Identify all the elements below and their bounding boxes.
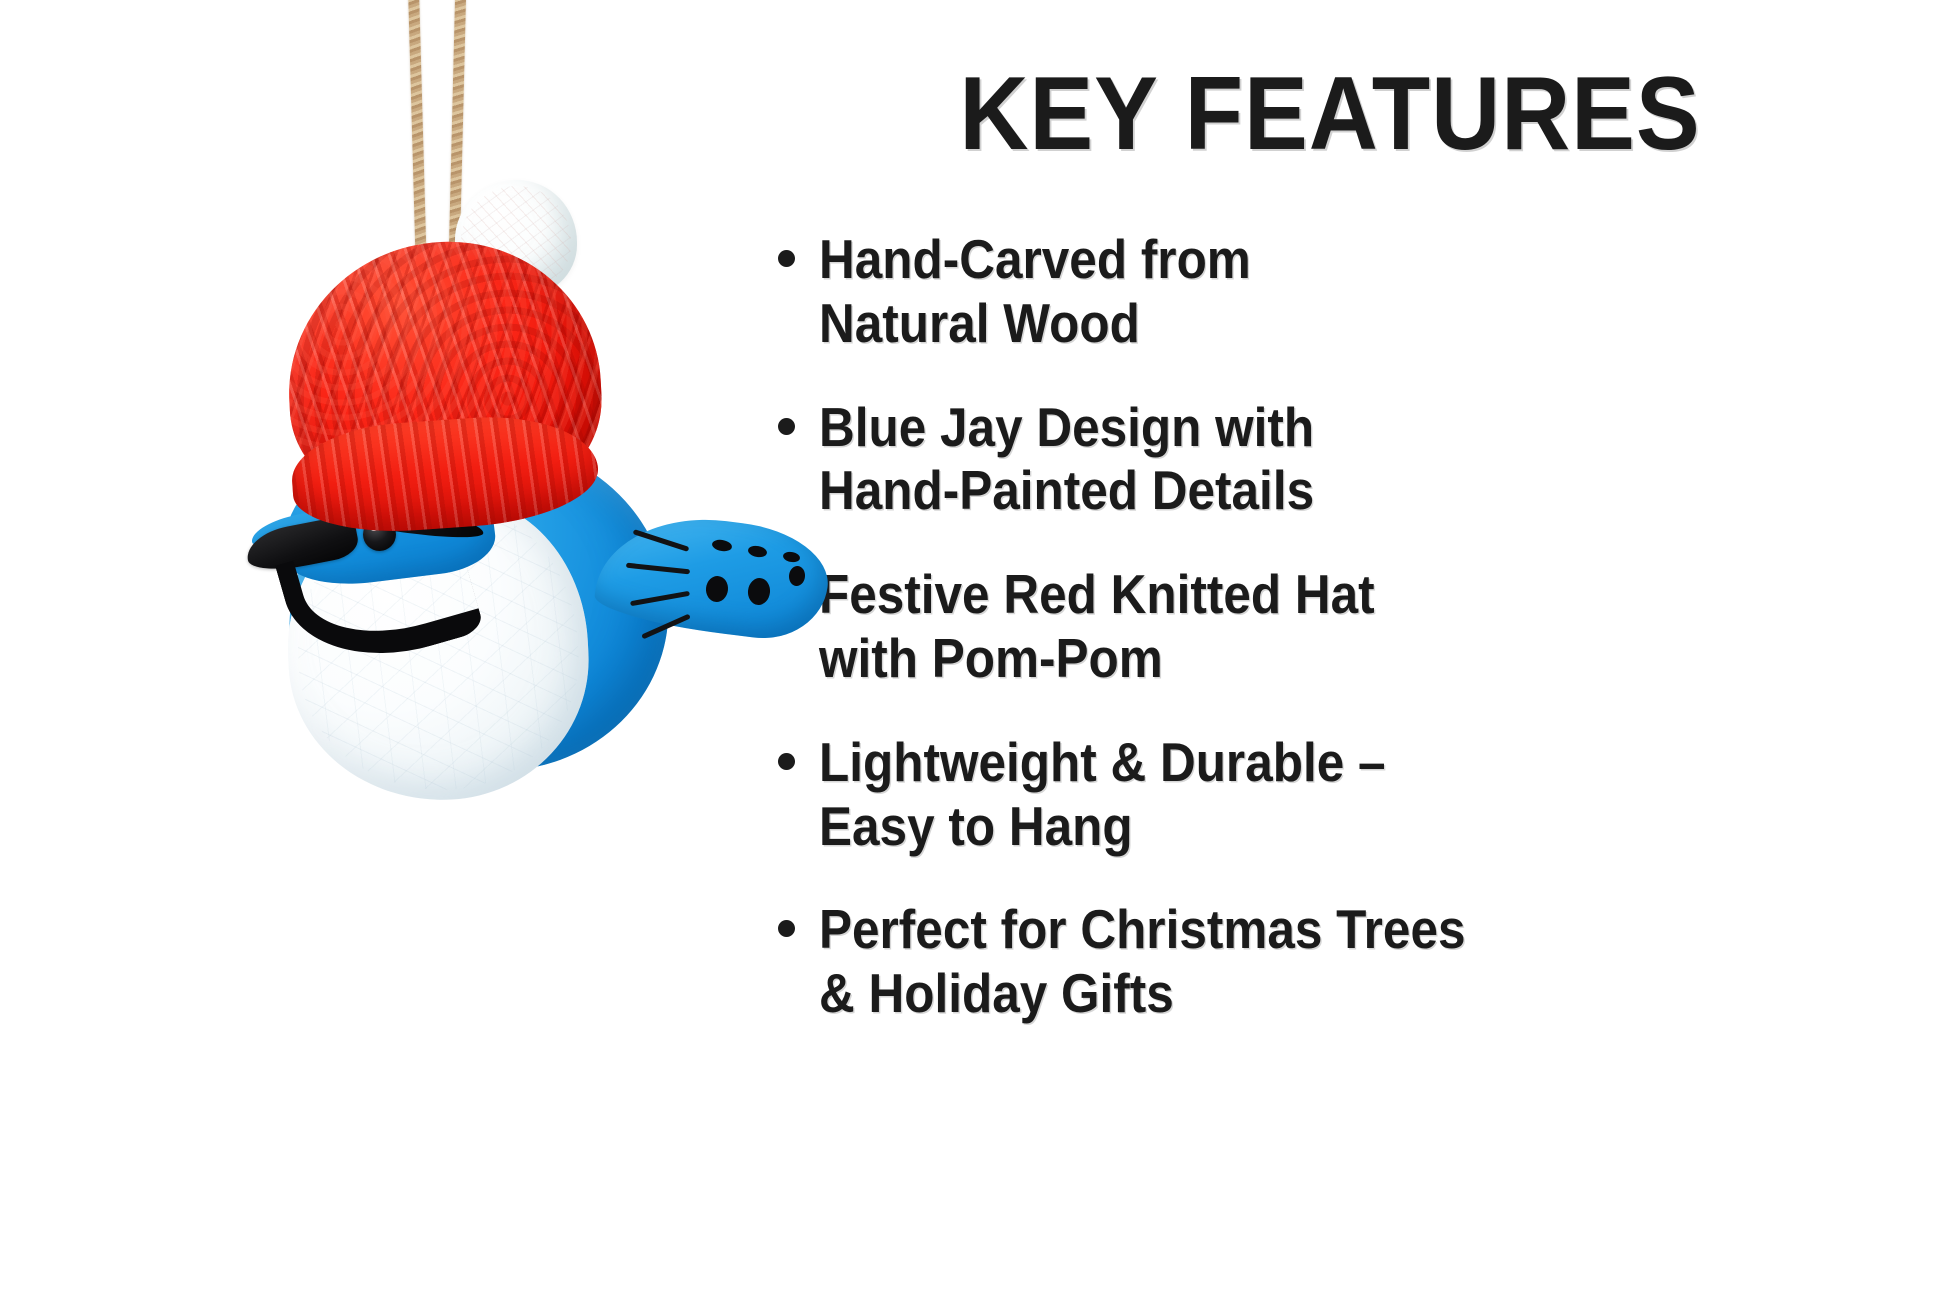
key-features-infographic: KEY FEATURES Hand-Carved from Natural Wo…	[0, 0, 1946, 1297]
list-item: Lightweight & Durable – Easy to Hang	[778, 731, 1896, 859]
feature-label: Perfect for Christmas Trees & Holiday Gi…	[819, 898, 1466, 1026]
feature-label: Blue Jay Design with Hand-Painted Detail…	[819, 396, 1314, 524]
features-text-pane: KEY FEATURES Hand-Carved from Natural Wo…	[760, 0, 1946, 1297]
bullet-icon	[778, 753, 795, 770]
list-item: Blue Jay Design with Hand-Painted Detail…	[778, 396, 1896, 524]
page-title: KEY FEATURES	[809, 62, 1850, 166]
product-image-pane	[0, 0, 760, 1297]
feature-label: Lightweight & Durable – Easy to Hang	[819, 731, 1386, 859]
bullet-icon	[778, 920, 795, 937]
red-knitted-hat	[288, 242, 600, 514]
features-list: Hand-Carved from Natural Wood Blue Jay D…	[764, 228, 1896, 1026]
list-item: Hand-Carved from Natural Wood	[778, 228, 1896, 356]
product-photo	[0, 0, 760, 1297]
list-item: Festive Red Knitted Hat with Pom-Pom	[778, 563, 1896, 691]
feature-label: Festive Red Knitted Hat with Pom-Pom	[819, 563, 1375, 691]
bullet-icon	[778, 418, 795, 435]
bullet-icon	[778, 250, 795, 267]
feature-label: Hand-Carved from Natural Wood	[819, 228, 1251, 356]
blue-jay-figure	[0, 0, 760, 1297]
list-item: Perfect for Christmas Trees & Holiday Gi…	[778, 898, 1896, 1026]
